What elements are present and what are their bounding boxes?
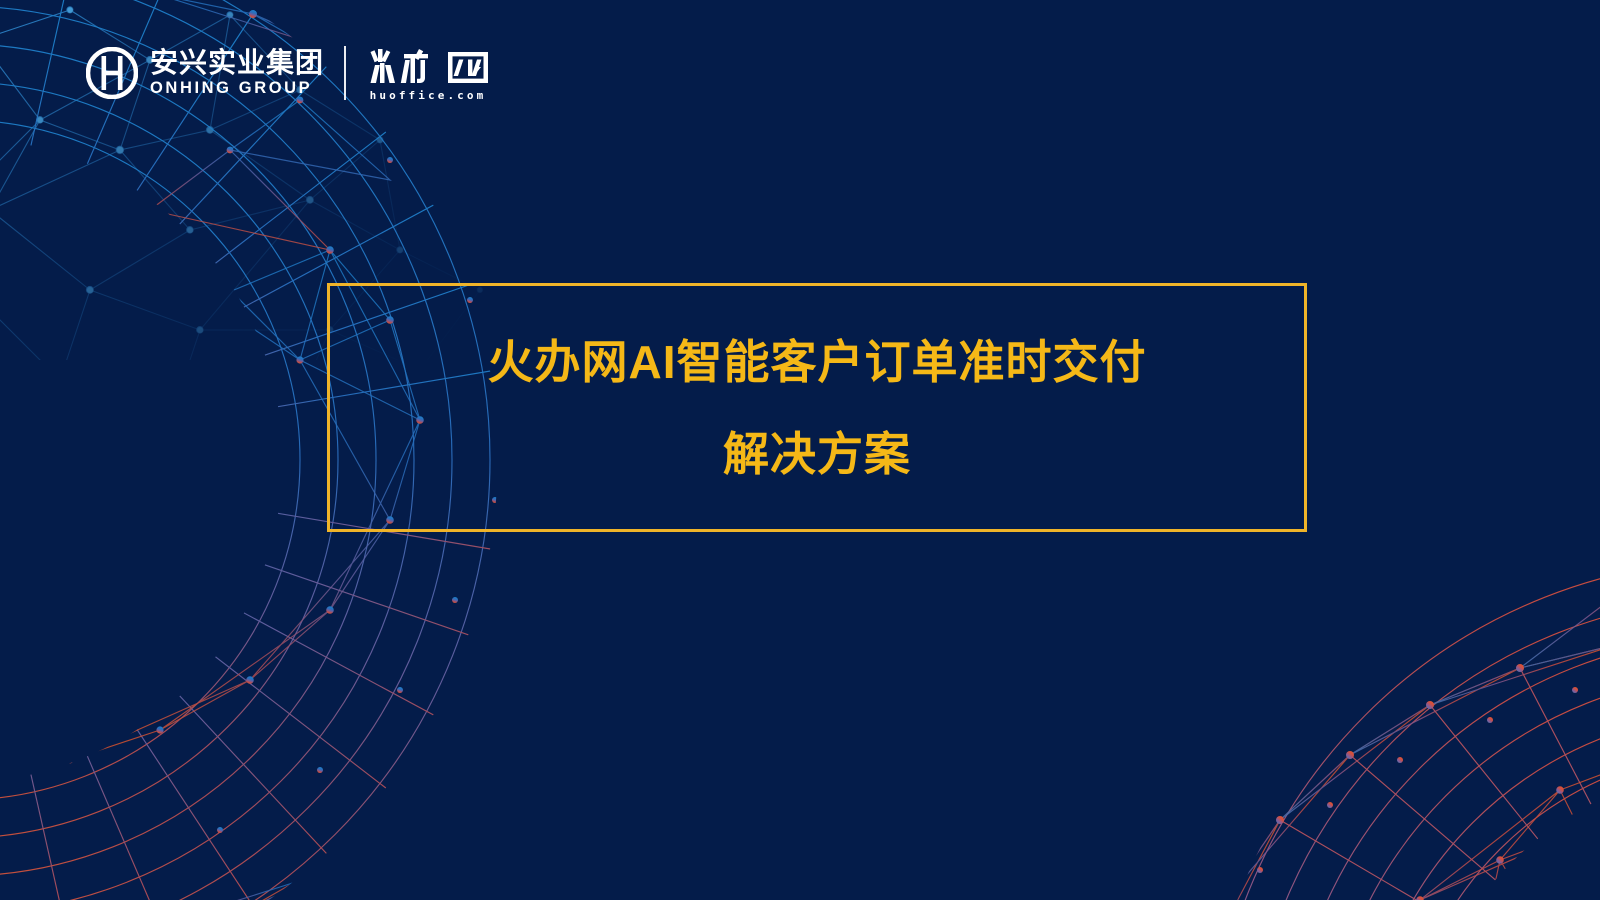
company-name-cn: 安兴实业集团 <box>150 48 324 78</box>
page-title-line-1: 火办网AI智能客户订单准时交付 <box>488 339 1147 385</box>
network-mesh-arc-right <box>1170 520 1600 900</box>
title-frame: 火办网AI智能客户订单准时交付 解决方案 <box>327 283 1307 532</box>
huowang-cn-logotype-icon <box>364 46 492 86</box>
company-name-en: ONHING GROUP <box>150 78 324 99</box>
onhing-circle-h-monogram-icon <box>86 47 138 99</box>
brand-logo-bar: 安兴实业集团 ONHING GROUP <box>86 40 492 106</box>
huoffice-logo: huoffice.com <box>364 44 492 102</box>
page-title-line-2: 解决方案 <box>723 431 911 477</box>
onhing-wordmark: 安兴实业集团 ONHING GROUP <box>150 46 324 100</box>
logo-separator <box>344 46 346 100</box>
title-slide: 安兴实业集团 ONHING GROUP <box>0 0 1600 900</box>
huoffice-url: huoffice.com <box>370 90 487 101</box>
